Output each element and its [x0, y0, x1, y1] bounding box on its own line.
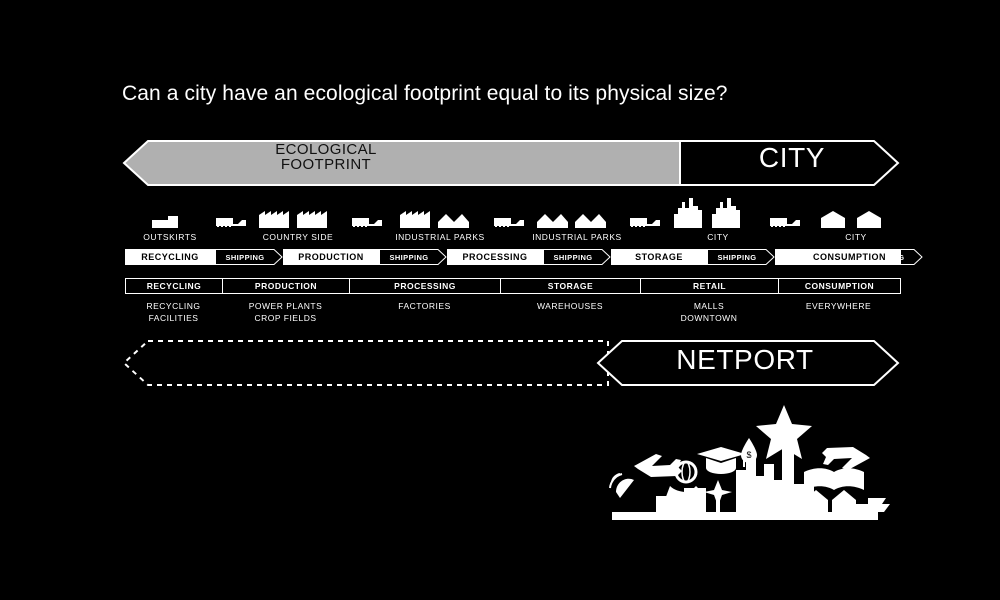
tree-trunk: [716, 496, 720, 512]
icon-group-outskirts: [148, 214, 184, 228]
detail-line: FACILITIES: [125, 312, 222, 324]
infographic-canvas: Can a city have an ecological footprint …: [0, 0, 1000, 600]
shipping-arrow-label-1: SHIPPING: [215, 249, 275, 265]
table-header-consumption: CONSUMPTION: [779, 279, 900, 293]
table-header-recycling: RECYCLING: [126, 279, 223, 293]
truck-icon: [494, 214, 524, 228]
table-detail-consumption: EVERYWHERE: [778, 300, 899, 312]
city-collage-illustration: $: [608, 400, 898, 520]
truck-icon: [216, 214, 246, 228]
warehouse-icon: [438, 213, 470, 228]
icon-group-country-side: [259, 210, 329, 228]
table-detail-storage: WAREHOUSES: [500, 300, 640, 312]
detail-line: WAREHOUSES: [500, 300, 640, 312]
house-icon: [820, 210, 846, 228]
banner-eco-label: ECOLOGICAL FOOTPRINT: [232, 142, 420, 173]
table-detail-retail: MALLS DOWNTOWN: [640, 300, 778, 325]
skyline-icon: [712, 196, 744, 228]
detail-line: DOWNTOWN: [640, 312, 778, 324]
table-header-production: PRODUCTION: [223, 279, 350, 293]
ship-icon: [854, 498, 890, 512]
detail-line: EVERYWHERE: [778, 300, 899, 312]
detail-line: CROP FIELDS: [222, 312, 349, 324]
category-table: RECYCLING PRODUCTION PROCESSING STORAGE …: [125, 278, 901, 294]
banner-city-label: CITY: [700, 144, 884, 173]
collage-art: $: [608, 400, 898, 520]
truck-icon: [630, 214, 660, 228]
table-header-processing: PROCESSING: [350, 279, 501, 293]
globe-meridian: [682, 462, 690, 482]
stage-cell-storage[interactable]: STORAGE: [611, 249, 707, 265]
ground-baseline: [612, 512, 878, 520]
icon-group-city-skyline: [674, 196, 744, 228]
graduation-cap-tassel: [743, 453, 745, 467]
stage-cell-recycling[interactable]: RECYCLING: [125, 249, 215, 265]
table-header-storage: STORAGE: [501, 279, 641, 293]
detail-line: RECYCLING: [125, 300, 222, 312]
icon-group-truck-5: [770, 214, 800, 228]
supply-chain-strip: RECYCLING SHIPPING PRODUCTION SHIPPING P…: [125, 249, 901, 265]
factory-icon: [297, 210, 329, 228]
house-icon: [832, 490, 856, 512]
detail-line: POWER PLANTS: [222, 300, 349, 312]
zone-label-industrial-2: INDUSTRIAL PARKS: [512, 232, 642, 242]
shipping-arrow-4[interactable]: SHIPPING: [707, 249, 775, 265]
zone-label-city-skyline: CITY: [672, 232, 764, 242]
page-title: Can a city have an ecological footprint …: [122, 82, 728, 106]
house-icon: [856, 210, 882, 228]
shipping-arrow-label-3: SHIPPING: [543, 249, 603, 265]
shipping-arrow-label-2: SHIPPING: [379, 249, 439, 265]
icon-group-truck-3: [494, 214, 524, 228]
detail-line: MALLS: [640, 300, 778, 312]
factory-icon: [259, 210, 291, 228]
shipping-arrow-2[interactable]: SHIPPING: [379, 249, 447, 265]
icon-group-city-houses: [820, 210, 882, 228]
table-detail-recycling: RECYCLING FACILITIES: [125, 300, 222, 325]
banner-eco-line1: ECOLOGICAL: [232, 142, 420, 157]
detail-line: FACTORIES: [349, 300, 500, 312]
shipping-arrow-1[interactable]: SHIPPING: [215, 249, 283, 265]
netport-dashed-region: [124, 341, 608, 385]
zone-label-country-side: COUNTRY SIDE: [235, 232, 361, 242]
truck-icon: [770, 214, 800, 228]
icon-group-truck-1: [216, 214, 246, 228]
banner-eco-line2: FOOTPRINT: [232, 157, 420, 172]
airplane-icon: [822, 447, 870, 470]
shipping-arrow-3[interactable]: SHIPPING: [543, 249, 611, 265]
icon-group-industrial-parks-2: [537, 213, 607, 228]
skyline-icon: [674, 196, 706, 228]
table-detail-production: POWER PLANTS CROP FIELDS: [222, 300, 349, 325]
zone-label-city-houses: CITY: [810, 232, 902, 242]
low-building-icon: [148, 214, 184, 228]
zone-icon-row: [122, 196, 900, 228]
factory-icon: [400, 210, 432, 228]
stage-cell-consumption[interactable]: CONSUMPTION: [798, 249, 901, 265]
warehouse-icon: [537, 213, 569, 228]
icon-group-truck-2: [352, 214, 382, 228]
zone-label-outskirts: OUTSKIRTS: [122, 232, 218, 242]
graduation-cap-icon: [697, 447, 745, 461]
satellite-dish-icon: [616, 479, 634, 498]
warehouse-icon: [575, 213, 607, 228]
icon-group-industrial-parks-1: [400, 210, 470, 228]
table-header-retail: RETAIL: [641, 279, 779, 293]
icon-group-truck-4: [630, 214, 660, 228]
shipping-arrow-label-4: SHIPPING: [707, 249, 767, 265]
truck-icon: [352, 214, 382, 228]
netport-label: NETPORT: [640, 344, 850, 376]
stage-cell-production[interactable]: PRODUCTION: [283, 249, 379, 265]
zone-label-industrial-1: INDUSTRIAL PARKS: [375, 232, 505, 242]
stage-cell-processing[interactable]: PROCESSING: [447, 249, 543, 265]
table-detail-processing: FACTORIES: [349, 300, 500, 312]
